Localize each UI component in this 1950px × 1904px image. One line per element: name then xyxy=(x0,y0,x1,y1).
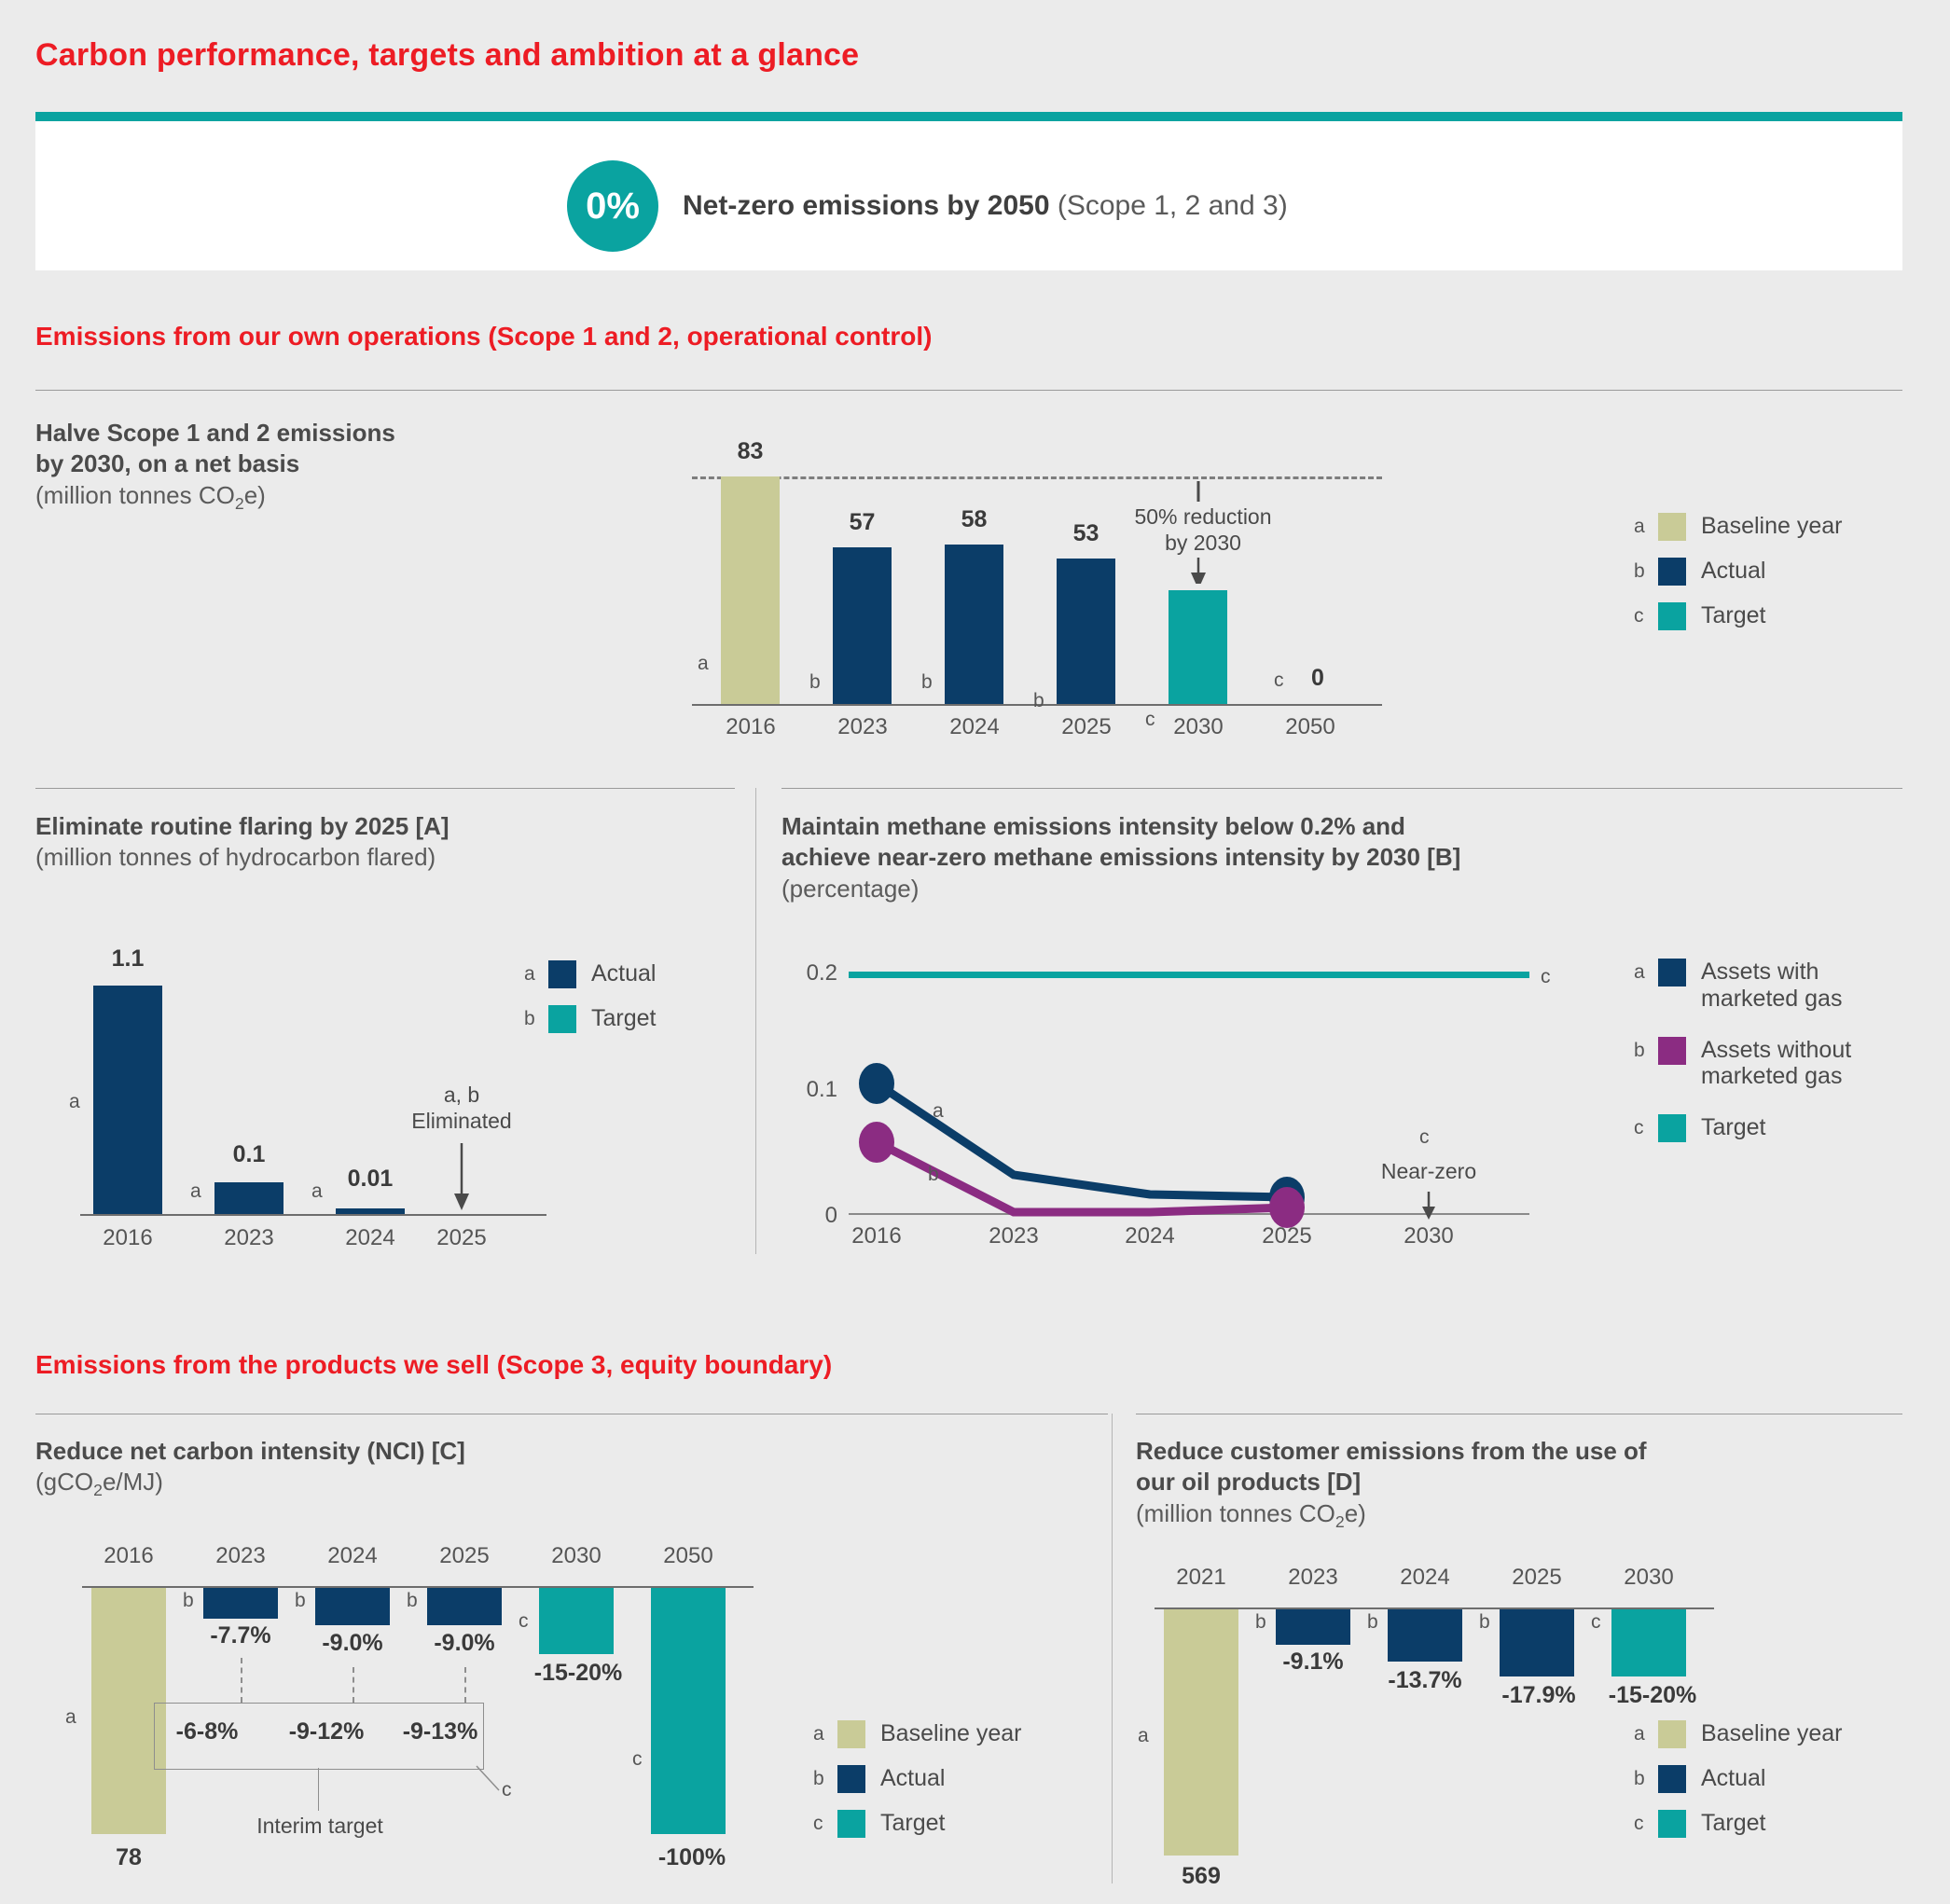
key-letter-nci-2016: a xyxy=(65,1706,76,1729)
legend-flaring: a Actual b Target xyxy=(524,960,656,1050)
interim-value-2023: -6-8% xyxy=(160,1718,254,1745)
section-heading-scope-3: Emissions from the products we sell (Sco… xyxy=(35,1350,832,1380)
xtick-methane-2016: 2016 xyxy=(839,1223,914,1249)
legend-key-nci-a: a xyxy=(813,1720,837,1748)
key-letter-2050: c xyxy=(1274,669,1284,692)
key-letter-interim: c xyxy=(502,1779,512,1801)
annotation-arrow-2030 xyxy=(1182,481,1214,584)
legend-item-without-gas: b Assets without marketed gas xyxy=(1634,1037,1895,1091)
legend-swatch-without-gas-icon xyxy=(1658,1037,1686,1065)
key-letter-2030: c xyxy=(1145,709,1155,731)
bar-nci-2030-target xyxy=(539,1588,614,1654)
legend-item-methane-target: c Target xyxy=(1634,1114,1895,1142)
key-letter-nci-2024: b xyxy=(295,1590,306,1612)
divider-methane xyxy=(781,788,1902,789)
legend-item-cust-actual: b Actual xyxy=(1634,1765,1842,1793)
legend-label-target: Target xyxy=(1701,602,1765,629)
panel-title-flaring: Eliminate routine flaring by 2025 [A] (m… xyxy=(35,811,726,874)
marker-without-gas-2016 xyxy=(859,1122,894,1163)
key-letter-methane-a: a xyxy=(933,1100,944,1123)
value-label-nci-2016: 78 xyxy=(84,1844,173,1871)
net-zero-card: 0% Net-zero emissions by 2050 (Scope 1, … xyxy=(35,112,1902,270)
divider-customer xyxy=(1136,1414,1902,1414)
legend-swatch-baseline-icon xyxy=(1658,513,1686,541)
legend-swatch-nci-target-icon xyxy=(837,1810,865,1838)
legend-label-methane-target: Target xyxy=(1701,1114,1765,1141)
xtick-flaring-2023: 2023 xyxy=(212,1225,286,1251)
key-letter-methane-target: c xyxy=(1541,966,1551,988)
divider-vertical-row2 xyxy=(755,788,756,1254)
xtick-flaring-2025: 2025 xyxy=(424,1225,499,1251)
legend-label-flaring-target: Target xyxy=(591,1005,656,1032)
interim-leader-line xyxy=(318,1768,319,1811)
legend-label-nci-target: Target xyxy=(880,1810,945,1837)
xtick-cust-2025: 2025 xyxy=(1494,1565,1580,1591)
interim-value-2024: -9-12% xyxy=(270,1718,382,1745)
interim-value-2025: -9-13% xyxy=(384,1718,496,1745)
key-letter-flaring-2024: a xyxy=(311,1180,323,1203)
legend-swatch-cust-baseline-icon xyxy=(1658,1720,1686,1748)
methane-series-lines xyxy=(849,960,1539,1231)
value-label-cust-2024: -13.7% xyxy=(1369,1667,1481,1694)
xtick-2050: 2050 xyxy=(1273,714,1348,740)
value-label-2023: 57 xyxy=(833,509,892,536)
key-letter-nci-2050: c xyxy=(632,1748,643,1771)
xtick-2025: 2025 xyxy=(1049,714,1124,740)
legend-label-cust-target: Target xyxy=(1701,1810,1765,1837)
legend-halve-scope: a Baseline year b Actual c Target xyxy=(1634,513,1842,647)
annotation-eliminated-keys: a, b xyxy=(444,1083,479,1107)
value-label-cust-2025: -17.9% xyxy=(1483,1682,1595,1709)
methane-unit: (percentage) xyxy=(781,875,919,903)
flaring-title: Eliminate routine flaring by 2025 [A] xyxy=(35,812,449,840)
legend-item-cust-target: c Target xyxy=(1634,1810,1842,1838)
connector-2025 xyxy=(464,1667,466,1703)
net-zero-bold-text: Net-zero emissions by 2050 xyxy=(683,190,1050,221)
key-letter-nci-2023: b xyxy=(183,1590,194,1612)
legend-key-b: b xyxy=(1634,558,1658,586)
ytick-0-1: 0.1 xyxy=(781,1077,837,1103)
legend-label-cust-baseline: Baseline year xyxy=(1701,1720,1842,1747)
legend-nci: a Baseline year b Actual c Target xyxy=(813,1720,1021,1855)
bar-2025-actual xyxy=(1057,559,1115,704)
divider-scope12 xyxy=(35,390,1902,391)
xtick-2016: 2016 xyxy=(713,714,788,740)
value-label-2050: 0 xyxy=(1299,665,1336,692)
key-letter-2023: b xyxy=(809,671,821,694)
legend-swatch-nci-baseline-icon xyxy=(837,1720,865,1748)
key-letter-2025: b xyxy=(1033,690,1044,712)
key-letter-flaring-2023: a xyxy=(190,1180,201,1203)
key-letter-methane-b: b xyxy=(928,1164,939,1186)
xtick-nci-2016: 2016 xyxy=(86,1543,172,1569)
legend-label-with-gas: Assets with marketed gas xyxy=(1701,959,1888,1013)
legend-key-nci-c: c xyxy=(813,1810,837,1838)
bar-cust-2021-baseline xyxy=(1164,1609,1238,1856)
legend-label-cust-actual: Actual xyxy=(1701,1765,1765,1792)
legend-swatch-target-icon xyxy=(1658,602,1686,630)
xtick-nci-2050: 2050 xyxy=(645,1543,731,1569)
value-label-nci-2024: -9.0% xyxy=(304,1630,401,1657)
legend-key-a: a xyxy=(1634,513,1658,541)
bar-cust-2025-actual xyxy=(1500,1609,1574,1676)
annotation-eliminated: a, b Eliminated xyxy=(373,1082,550,1134)
value-label-nci-2050: -100% xyxy=(643,1844,740,1871)
value-label-2016: 83 xyxy=(721,438,780,465)
panel-title-customer: Reduce customer emissions from the use o… xyxy=(1136,1436,1901,1532)
key-letter-methane-nearzero: c xyxy=(1419,1126,1430,1149)
key-letter-cust-2030: c xyxy=(1591,1611,1601,1634)
marker-without-gas-2025 xyxy=(1269,1187,1305,1228)
legend-key-methane-b: b xyxy=(1634,1037,1658,1065)
bar-2030-target xyxy=(1169,590,1227,704)
connector-2024 xyxy=(353,1667,354,1703)
nci-title: Reduce net carbon intensity (NCI) [C] xyxy=(35,1437,465,1465)
annotation-arrow-eliminated xyxy=(446,1143,477,1218)
legend-swatch-nci-actual-icon xyxy=(837,1765,865,1793)
divider-nci xyxy=(35,1414,1108,1414)
xtick-flaring-2016: 2016 xyxy=(90,1225,165,1251)
annotation-eliminated-text: Eliminated xyxy=(411,1109,511,1133)
page-title: Carbon performance, targets and ambition… xyxy=(35,37,859,74)
divider-vertical-row3 xyxy=(1112,1414,1113,1883)
value-label-nci-2023: -7.7% xyxy=(192,1622,289,1649)
bar-cust-2023-actual xyxy=(1276,1609,1350,1645)
legend-swatch-methane-target-icon xyxy=(1658,1114,1686,1142)
xtick-cust-2023: 2023 xyxy=(1270,1565,1356,1591)
xtick-nci-2024: 2024 xyxy=(310,1543,395,1569)
value-label-flaring-2024: 0.01 xyxy=(328,1166,412,1193)
value-label-flaring-2023: 0.1 xyxy=(211,1141,287,1168)
xtick-methane-2030: 2030 xyxy=(1391,1223,1466,1249)
panel-title-methane: Maintain methane emissions intensity bel… xyxy=(781,811,1807,904)
flaring-unit: (million tonnes of hydrocarbon flared) xyxy=(35,843,436,871)
legend-label-without-gas: Assets without marketed gas xyxy=(1701,1037,1888,1091)
key-letter-2016: a xyxy=(698,653,709,675)
legend-swatch-with-gas-icon xyxy=(1658,959,1686,986)
legend-label-baseline: Baseline year xyxy=(1701,513,1842,540)
legend-key-cust-b: b xyxy=(1634,1765,1658,1793)
legend-item-target: c Target xyxy=(1634,602,1842,630)
bar-2024-actual xyxy=(945,545,1003,704)
key-letter-flaring-2016: a xyxy=(69,1091,80,1113)
xtick-nci-2025: 2025 xyxy=(422,1543,507,1569)
section-heading-scope-1-2: Emissions from our own operations (Scope… xyxy=(35,322,932,352)
connector-2023 xyxy=(241,1658,242,1703)
bar-2016-baseline xyxy=(721,476,780,704)
value-label-nci-2030: -15-20% xyxy=(520,1660,636,1687)
xtick-2030: 2030 xyxy=(1161,714,1236,740)
methane-title-line1: Maintain methane emissions intensity bel… xyxy=(781,812,1405,840)
legend-key-methane-a: a xyxy=(1634,959,1658,986)
legend-key-methane-c: c xyxy=(1634,1114,1658,1142)
legend-key-c: c xyxy=(1634,602,1658,630)
legend-item-flaring-target: b Target xyxy=(524,1005,656,1033)
legend-key-cust-c: c xyxy=(1634,1810,1658,1838)
legend-swatch-flaring-target-icon xyxy=(548,1005,576,1033)
value-label-nci-2025: -9.0% xyxy=(416,1630,513,1657)
xtick-cust-2021: 2021 xyxy=(1158,1565,1244,1591)
value-label-flaring-2016: 1.1 xyxy=(90,945,166,973)
bar-flaring-2023 xyxy=(214,1182,284,1214)
legend-item-flaring-actual: a Actual xyxy=(524,960,656,988)
xtick-methane-2025: 2025 xyxy=(1250,1223,1324,1249)
xtick-methane-2023: 2023 xyxy=(976,1223,1051,1249)
methane-title-line2: achieve near-zero methane emissions inte… xyxy=(781,843,1460,871)
legend-item-cust-baseline: a Baseline year xyxy=(1634,1720,1842,1748)
legend-swatch-actual-icon xyxy=(1658,558,1686,586)
value-label-2024: 58 xyxy=(945,506,1003,533)
legend-methane: a Assets with marketed gas b Assets with… xyxy=(1634,959,1895,1159)
ytick-0-2: 0.2 xyxy=(781,960,837,986)
xtick-cust-2030: 2030 xyxy=(1606,1565,1692,1591)
bar-nci-2050-target xyxy=(651,1588,726,1834)
customer-unit: (million tonnes CO2e) xyxy=(1136,1499,1366,1527)
nci-unit: (gCO2e/MJ) xyxy=(35,1468,163,1496)
legend-label-flaring-actual: Actual xyxy=(591,960,656,987)
value-label-cust-2021: 569 xyxy=(1156,1863,1246,1890)
legend-key-nci-b: b xyxy=(813,1765,837,1793)
interim-target-label: Interim target xyxy=(222,1813,418,1839)
legend-swatch-cust-target-icon xyxy=(1658,1810,1686,1838)
legend-label-nci-actual: Actual xyxy=(880,1765,945,1792)
key-letter-cust-2024: b xyxy=(1367,1611,1378,1634)
value-label-cust-2023: -9.1% xyxy=(1265,1649,1362,1676)
legend-key-cust-a: a xyxy=(1634,1720,1658,1748)
key-letter-cust-2023: b xyxy=(1255,1611,1266,1634)
halve-title-line1: Halve Scope 1 and 2 emissions xyxy=(35,419,395,447)
xtick-methane-2024: 2024 xyxy=(1113,1223,1187,1249)
customer-title-line2: our oil products [D] xyxy=(1136,1468,1361,1496)
net-zero-scope-text: (Scope 1, 2 and 3) xyxy=(1058,190,1288,221)
legend-item-baseline: a Baseline year xyxy=(1634,513,1842,541)
xtick-2024: 2024 xyxy=(937,714,1012,740)
panel-title-halve-scope: Halve Scope 1 and 2 emissions by 2030, o… xyxy=(35,418,558,514)
legend-item-nci-baseline: a Baseline year xyxy=(813,1720,1021,1748)
legend-key-flaring-b: b xyxy=(524,1005,548,1033)
legend-item-nci-actual: b Actual xyxy=(813,1765,1021,1793)
xtick-nci-2023: 2023 xyxy=(198,1543,284,1569)
legend-swatch-cust-actual-icon xyxy=(1658,1765,1686,1793)
legend-item-nci-target: c Target xyxy=(813,1810,1021,1838)
annotation-arrow-near-zero xyxy=(1413,1192,1445,1223)
bar-flaring-2016 xyxy=(93,986,162,1214)
legend-item-with-gas: a Assets with marketed gas xyxy=(1634,959,1895,1013)
legend-item-actual: b Actual xyxy=(1634,558,1842,586)
net-zero-badge: 0% xyxy=(567,160,658,252)
legend-swatch-flaring-actual-icon xyxy=(548,960,576,988)
baseline-reference-line xyxy=(692,476,1382,479)
bar-nci-2024-actual xyxy=(315,1588,390,1625)
xtick-cust-2024: 2024 xyxy=(1382,1565,1468,1591)
halve-unit: (million tonnes CO2e) xyxy=(35,481,266,509)
legend-key-flaring-a: a xyxy=(524,960,548,988)
halve-title-line2: by 2030, on a net basis xyxy=(35,449,299,477)
xtick-nci-2030: 2030 xyxy=(533,1543,619,1569)
bar-2023-actual xyxy=(833,547,892,704)
value-label-cust-2030: -15-20% xyxy=(1593,1682,1712,1709)
key-letter-cust-2021: a xyxy=(1138,1725,1149,1747)
infographic-page: Carbon performance, targets and ambition… xyxy=(0,0,1950,1904)
bar-cust-2030-target xyxy=(1611,1609,1686,1676)
legend-label-nci-baseline: Baseline year xyxy=(880,1720,1021,1747)
marker-with-gas-2016 xyxy=(859,1063,894,1104)
xtick-flaring-2024: 2024 xyxy=(333,1225,408,1251)
bar-nci-2025-actual xyxy=(427,1588,502,1625)
ytick-0: 0 xyxy=(781,1203,837,1229)
bar-flaring-2024 xyxy=(336,1208,405,1214)
xtick-2023: 2023 xyxy=(825,714,900,740)
annotation-near-zero: Near-zero xyxy=(1345,1158,1513,1184)
net-zero-statement: Net-zero emissions by 2050 (Scope 1, 2 a… xyxy=(683,190,1288,222)
key-letter-nci-2030: c xyxy=(519,1610,529,1633)
key-letter-nci-2025: b xyxy=(407,1590,418,1612)
bar-cust-2024-actual xyxy=(1388,1609,1462,1662)
key-letter-2024: b xyxy=(921,671,933,694)
key-letter-cust-2025: b xyxy=(1479,1611,1490,1634)
legend-label-actual: Actual xyxy=(1701,558,1765,585)
customer-title-line1: Reduce customer emissions from the use o… xyxy=(1136,1437,1647,1465)
divider-flaring xyxy=(35,788,735,789)
panel-title-nci: Reduce net carbon intensity (NCI) [C] (g… xyxy=(35,1436,968,1501)
legend-customer: a Baseline year b Actual c Target xyxy=(1634,1720,1842,1855)
bar-nci-2023-actual xyxy=(203,1588,278,1619)
